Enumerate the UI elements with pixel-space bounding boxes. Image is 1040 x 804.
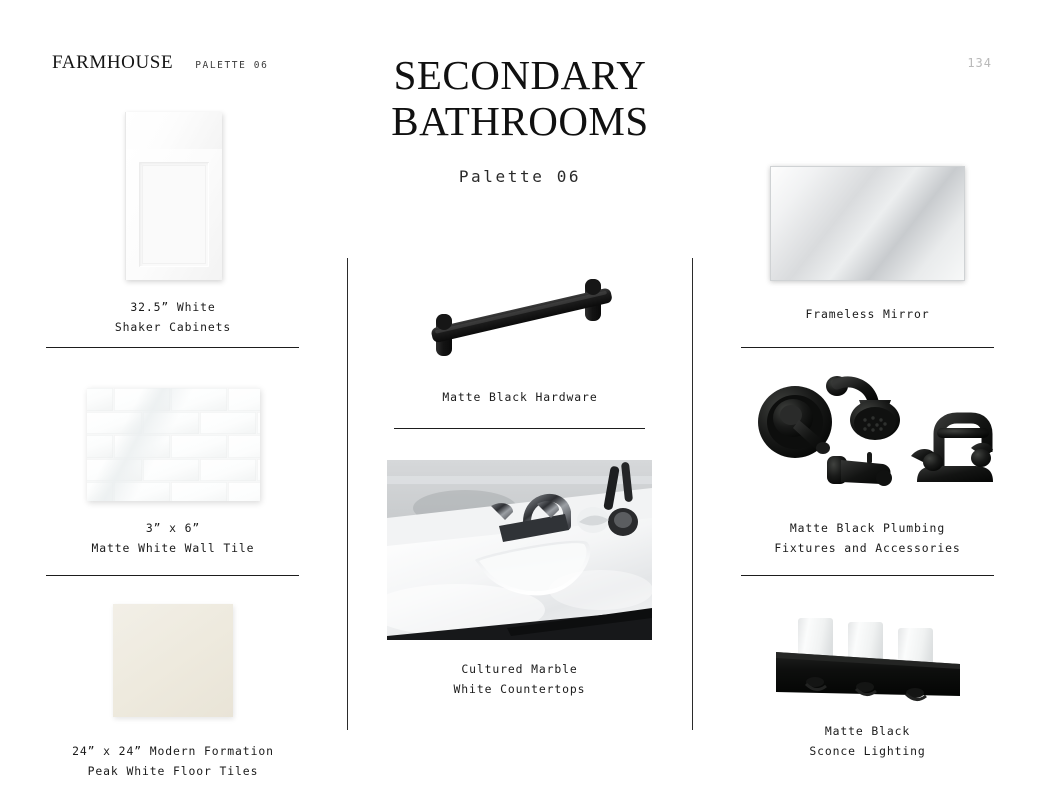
cabinet-drawer-front <box>126 112 222 150</box>
countertop-photo-graphic <box>387 460 652 640</box>
mirror-swatch <box>741 168 994 281</box>
section-divider-right-2 <box>741 575 994 576</box>
swatch-item-mirror[interactable]: Frameless Mirror <box>741 168 994 325</box>
swatch-item-shaker-cabinets[interactable]: 32.5” White Shaker Cabinets <box>46 108 300 337</box>
cabinet-door-front <box>126 149 222 280</box>
swatch-item-sconce-lighting[interactable]: Matte Black Sconce Lighting <box>741 600 994 761</box>
swatch-caption-line-2: Sconce Lighting <box>741 742 994 762</box>
swatch-item-hardware[interactable]: Matte Black Hardware <box>394 262 646 408</box>
swatch-caption-line-1: 24” x 24” Modern Formation <box>30 742 316 762</box>
brand-lockup: FARMHOUSE PALETTE 06 <box>52 52 268 74</box>
swatch-caption-line-1: Frameless Mirror <box>741 305 994 325</box>
page-number: 134 <box>967 56 992 70</box>
subway-tile-graphic <box>87 388 260 501</box>
cabinet-door-graphic <box>125 112 222 280</box>
swatch-caption-line-2: Fixtures and Accessories <box>741 539 994 559</box>
brand-name: FARMHOUSE <box>52 52 173 74</box>
sconce-light-graphic <box>770 608 965 704</box>
swatch-caption-line-2: Shaker Cabinets <box>46 318 300 338</box>
brand-palette-label: PALETTE 06 <box>195 60 268 71</box>
swatch-caption-line-2: Peak White Floor Tiles <box>30 762 316 782</box>
swatch-item-wall-tile[interactable]: 3” x 6” Matte White Wall Tile <box>46 388 300 558</box>
floor-tile-graphic <box>113 604 233 717</box>
swatch-caption-line-1: 3” x 6” <box>46 519 300 539</box>
swatch-caption-line-1: Cultured Marble <box>387 660 652 680</box>
mirror-graphic <box>770 166 965 281</box>
sconce-light-swatch <box>741 600 994 704</box>
section-divider-left-1 <box>46 347 299 348</box>
swatch-item-floor-tile[interactable]: 24” x 24” Modern Formation Peak White Fl… <box>30 604 316 781</box>
vanity-light-icon <box>770 608 965 712</box>
subway-tile-swatch <box>46 388 300 501</box>
swatch-caption-line-1: Matte Black <box>741 722 994 742</box>
swatch-caption-line-1: Matte Black Hardware <box>394 388 646 408</box>
plumbing-fixtures-graphic <box>741 368 994 503</box>
subway-tile-rows <box>87 388 260 501</box>
cabinet-pull-icon <box>420 268 620 368</box>
swatch-caption-line-2: Matte White Wall Tile <box>46 539 300 559</box>
palette-board-page: FARMHOUSE PALETTE 06 134 SECONDARY BATHR… <box>0 0 1040 804</box>
cabinet-pull-graphic <box>420 268 620 368</box>
countertop-photo <box>387 460 652 640</box>
swatch-item-plumbing-fixtures[interactable]: Matte Black Plumbing Fixtures and Access… <box>741 368 994 558</box>
section-divider-middle-1 <box>394 428 645 429</box>
cabinet-recessed-panel <box>139 162 209 267</box>
column-divider-right <box>692 258 693 730</box>
cabinet-door-swatch <box>46 108 300 280</box>
cabinet-pull-swatch <box>394 262 646 368</box>
countertop-scene-illustration <box>387 460 652 640</box>
floor-tile-swatch <box>30 604 316 717</box>
swatch-caption-line-1: 32.5” White <box>46 298 300 318</box>
swatch-item-countertop[interactable]: Cultured Marble White Countertops <box>387 460 652 699</box>
plumbing-fixtures-swatch <box>741 368 994 503</box>
section-divider-left-2 <box>46 575 299 576</box>
swatch-caption-line-2: White Countertops <box>387 680 652 700</box>
swatch-caption-line-1: Matte Black Plumbing <box>741 519 994 539</box>
column-divider-left <box>347 258 348 730</box>
section-divider-right-1 <box>741 347 994 348</box>
